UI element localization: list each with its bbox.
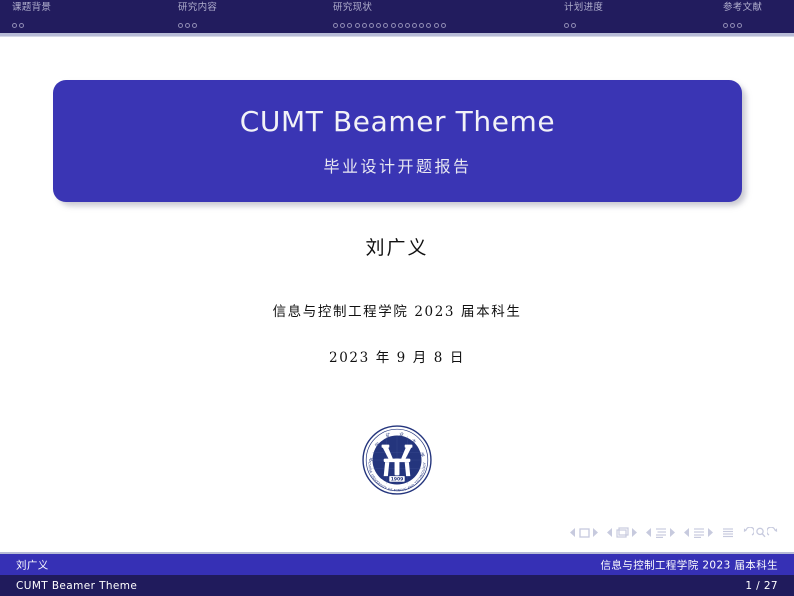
footer-institute: 信息与控制工程学院 2023 届本科生 bbox=[601, 557, 779, 572]
nav-slide-dot[interactable] bbox=[419, 23, 424, 28]
nav-section-label: 课题背景 bbox=[12, 3, 51, 13]
nav-section-label: 研究现状 bbox=[333, 3, 448, 13]
slide-next-icon[interactable] bbox=[592, 528, 598, 537]
page-title: CUMT Beamer Theme bbox=[240, 105, 556, 139]
footer-page-number: 1 / 27 bbox=[745, 580, 778, 592]
institute-name: 信息与控制工程学院 2023 届本科生 bbox=[0, 300, 794, 320]
nav-slide-dot[interactable] bbox=[564, 23, 569, 28]
nav-slide-dot[interactable] bbox=[723, 23, 728, 28]
author-name: 刘广义 bbox=[0, 233, 794, 260]
footer-author: 刘广义 bbox=[16, 557, 49, 572]
navsym-section-group[interactable] bbox=[684, 527, 713, 538]
nav-slide-dot[interactable] bbox=[333, 23, 338, 28]
frame-next-icon[interactable] bbox=[631, 528, 637, 537]
title-box: CUMT Beamer Theme 毕业设计开题报告 bbox=[53, 80, 742, 202]
nav-slide-dot[interactable] bbox=[178, 23, 183, 28]
nav-slide-dot[interactable] bbox=[434, 23, 439, 28]
nav-slide-dot[interactable] bbox=[571, 23, 576, 28]
footer-bottom-bar: CUMT Beamer Theme 1 / 27 bbox=[0, 575, 794, 596]
nav-section-研究内容[interactable]: 研究内容 bbox=[178, 3, 217, 33]
university-seal-icon: 1909 中 国 矿 业 大 学 CHINA UNIVERSITY OF MIN… bbox=[362, 425, 432, 495]
nav-slide-dot[interactable] bbox=[19, 23, 24, 28]
page-subtitle: 毕业设计开题报告 bbox=[323, 153, 471, 177]
nav-section-label: 参考文献 bbox=[723, 3, 762, 13]
nav-slide-dot[interactable] bbox=[347, 23, 352, 28]
nav-slide-dot[interactable] bbox=[355, 23, 360, 28]
navsym-frame-group[interactable] bbox=[607, 527, 637, 538]
slide-icon[interactable] bbox=[579, 528, 590, 538]
navsym-utility-group[interactable] bbox=[743, 527, 778, 538]
nav-slide-dot[interactable] bbox=[730, 23, 735, 28]
nav-slide-dot[interactable] bbox=[426, 23, 431, 28]
slide-prev-icon[interactable] bbox=[570, 528, 576, 537]
nav-section-研究现状[interactable]: 研究现状 bbox=[333, 3, 448, 33]
beamer-navigation-symbols[interactable] bbox=[570, 527, 778, 538]
subsection-next-icon[interactable] bbox=[669, 528, 675, 537]
nav-slide-dot[interactable] bbox=[398, 23, 403, 28]
nav-slide-dot[interactable] bbox=[185, 23, 190, 28]
nav-section-课题背景[interactable]: 课题背景 bbox=[12, 3, 51, 33]
frame-icon[interactable] bbox=[616, 527, 629, 538]
logo-year: 1909 bbox=[391, 477, 404, 483]
cumt-logo: 1909 中 国 矿 业 大 学 CHINA UNIVERSITY OF MIN… bbox=[362, 425, 432, 495]
nav-section-dots[interactable] bbox=[723, 17, 762, 33]
navsym-slide-group[interactable] bbox=[570, 528, 598, 538]
nav-section-label: 计划进度 bbox=[564, 3, 603, 13]
nav-slide-dot[interactable] bbox=[441, 23, 446, 28]
nav-slide-dot[interactable] bbox=[737, 23, 742, 28]
nav-slide-dot[interactable] bbox=[362, 23, 367, 28]
frame-prev-icon[interactable] bbox=[607, 528, 613, 537]
footer-title: CUMT Beamer Theme bbox=[16, 580, 137, 592]
nav-slide-dot[interactable] bbox=[376, 23, 381, 28]
nav-slide-dot[interactable] bbox=[405, 23, 410, 28]
beamer-slide: 课题背景 研究内容 研究现状 计划进度 参考文献 CUMT Beamer The… bbox=[0, 0, 794, 596]
subsection-prev-icon[interactable] bbox=[646, 528, 652, 537]
nav-section-参考文献[interactable]: 参考文献 bbox=[723, 3, 762, 33]
section-next-icon[interactable] bbox=[707, 528, 713, 537]
nav-section-计划进度[interactable]: 计划进度 bbox=[564, 3, 603, 33]
nav-slide-dot[interactable] bbox=[412, 23, 417, 28]
section-prev-icon[interactable] bbox=[684, 528, 690, 537]
nav-section-label: 研究内容 bbox=[178, 3, 217, 13]
nav-section-dots[interactable] bbox=[564, 17, 603, 33]
nav-slide-dot[interactable] bbox=[340, 23, 345, 28]
nav-slide-dot[interactable] bbox=[192, 23, 197, 28]
nav-slide-dot[interactable] bbox=[383, 23, 388, 28]
presentation-date: 2023 年 9 月 8 日 bbox=[0, 346, 794, 366]
nav-slide-dot[interactable] bbox=[391, 23, 396, 28]
back-icon[interactable] bbox=[743, 527, 754, 538]
forward-icon[interactable] bbox=[767, 527, 778, 538]
nav-section-dots[interactable] bbox=[333, 17, 448, 33]
section-icon[interactable] bbox=[693, 527, 705, 538]
subsection-icon[interactable] bbox=[655, 527, 667, 538]
footer-top-bar: 刘广义 信息与控制工程学院 2023 届本科生 bbox=[0, 554, 794, 575]
navbar-separator-line-thin bbox=[0, 36, 794, 37]
nav-section-dots[interactable] bbox=[12, 17, 51, 33]
nav-slide-dot[interactable] bbox=[12, 23, 17, 28]
nav-section-dots[interactable] bbox=[178, 17, 217, 33]
navsym-subsection-group[interactable] bbox=[646, 527, 675, 538]
nav-slide-dot[interactable] bbox=[369, 23, 374, 28]
doc-icon[interactable] bbox=[722, 527, 734, 538]
search-icon[interactable] bbox=[755, 527, 766, 538]
